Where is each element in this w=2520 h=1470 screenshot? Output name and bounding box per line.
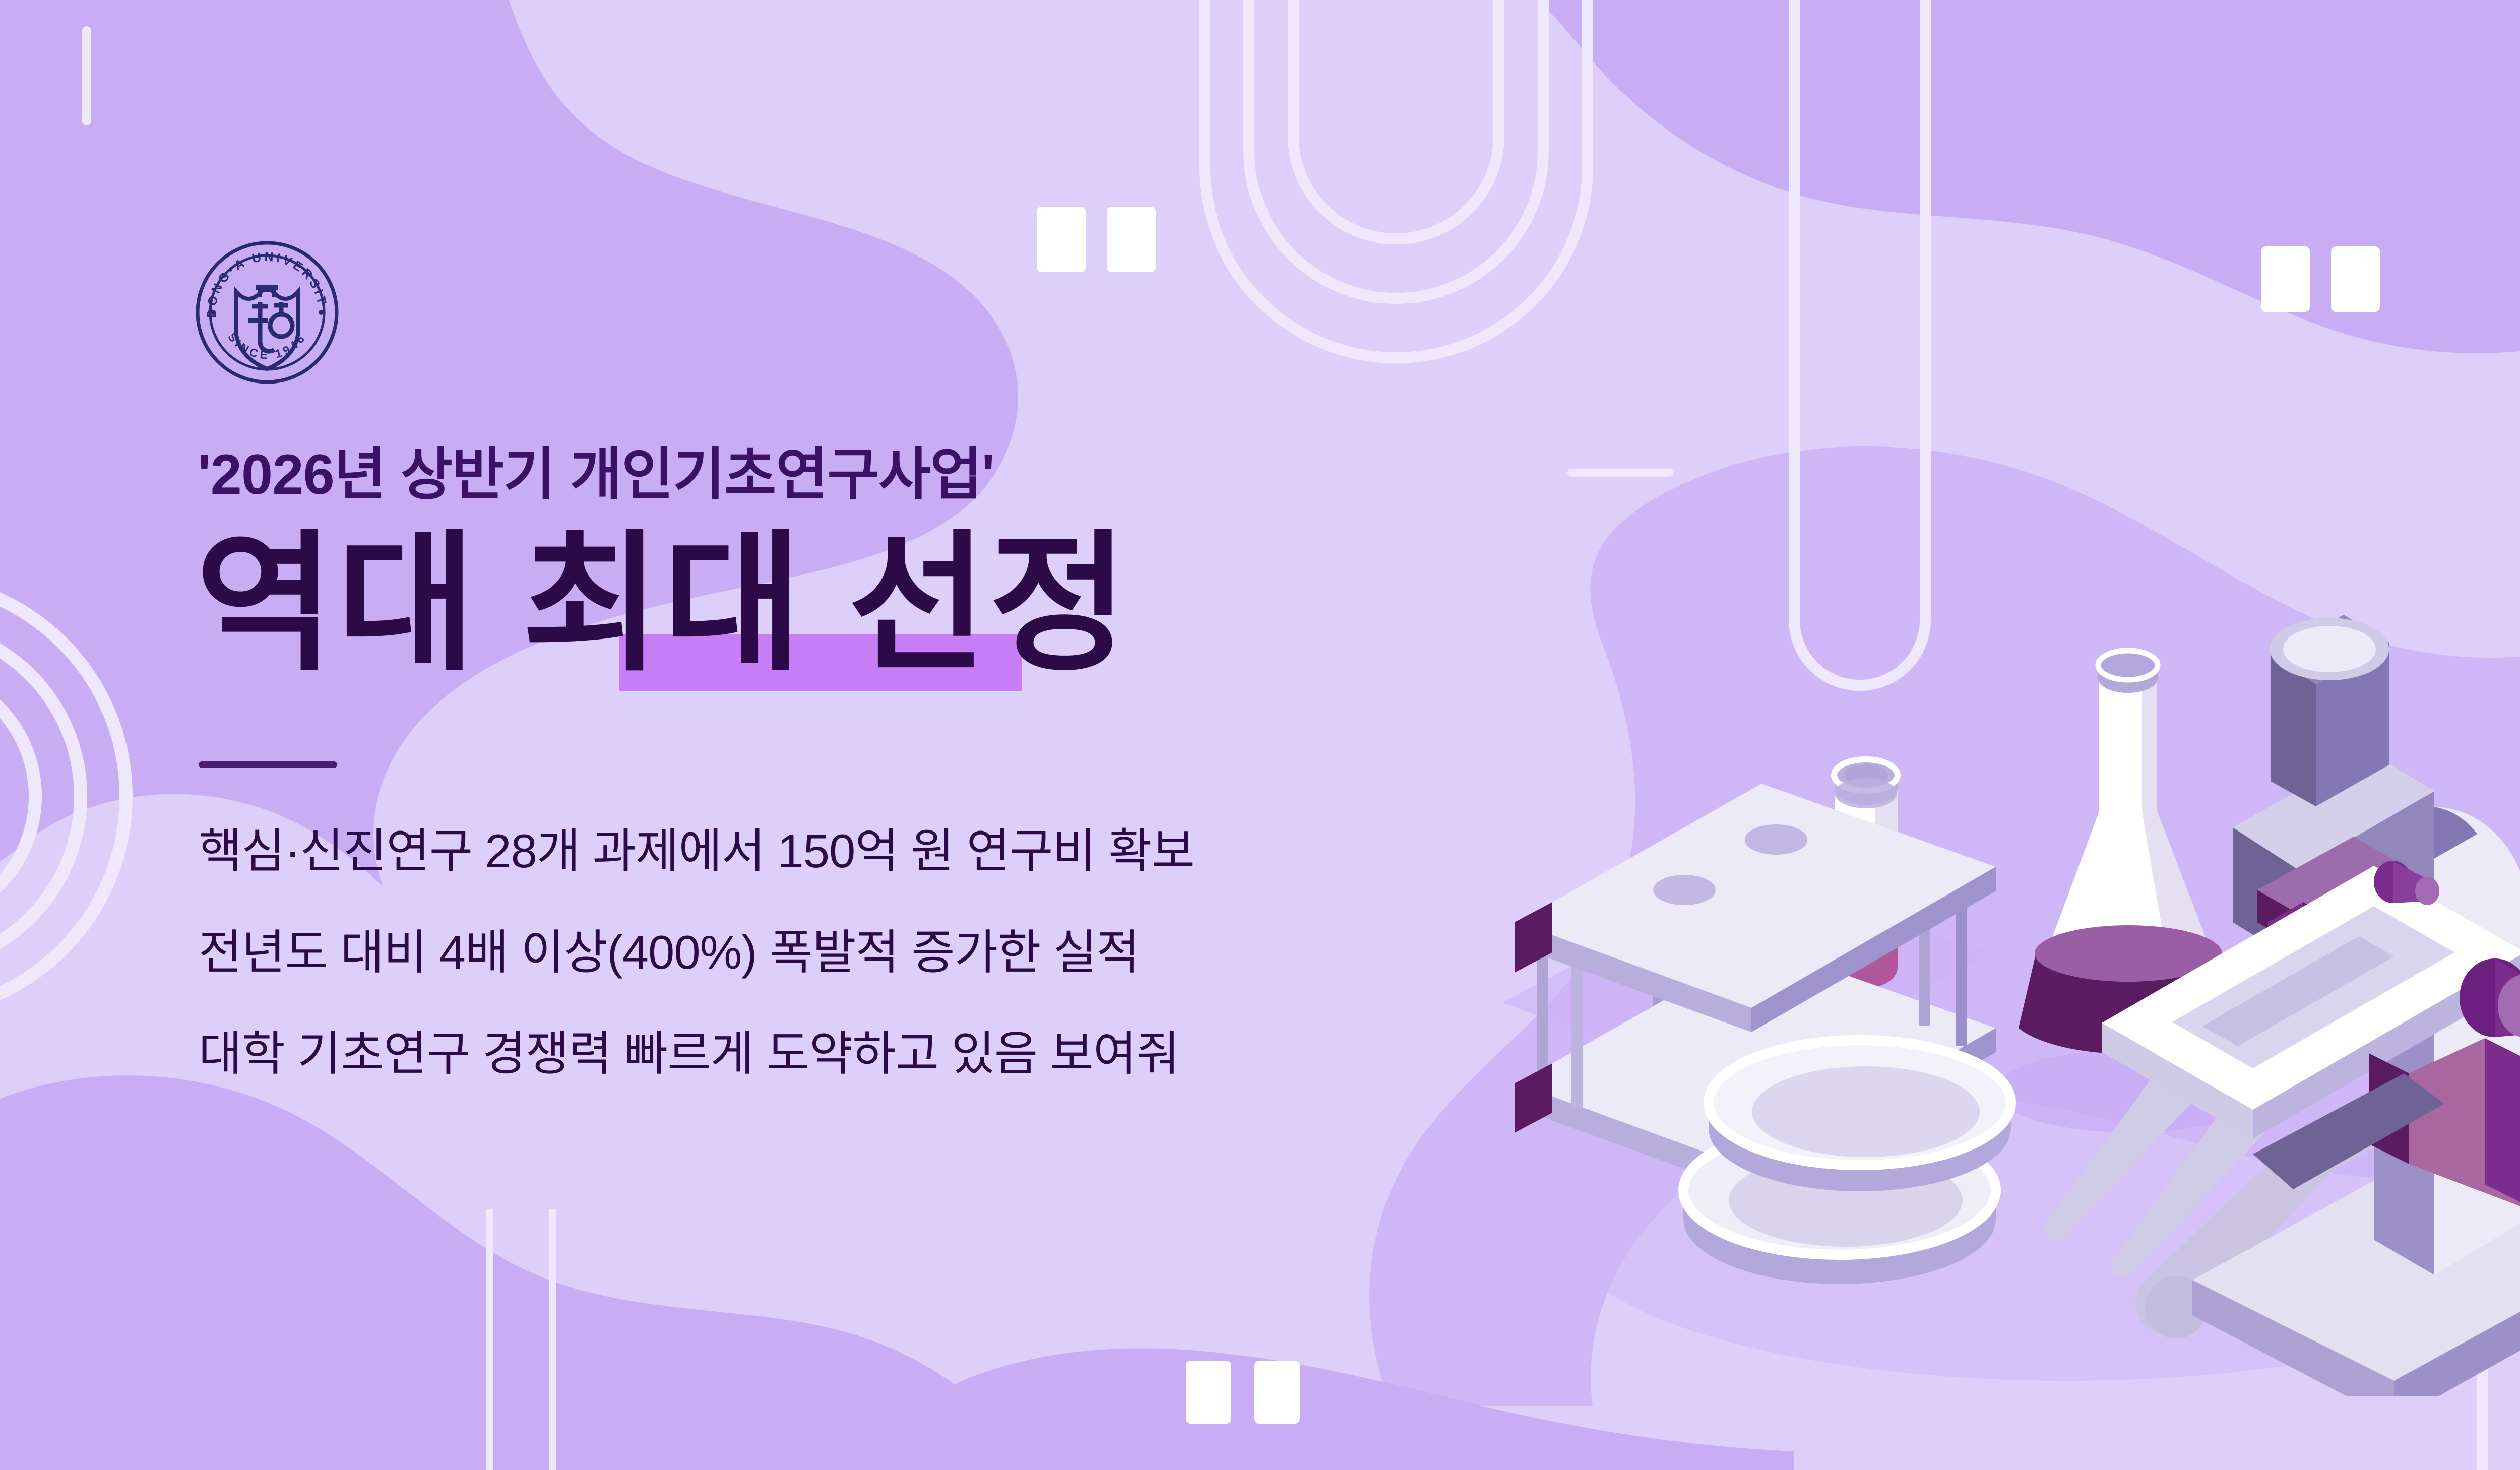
body-line-1: 핵심·신진연구 28개 과제에서 150억 원 연구비 확보 [199,827,1754,875]
body-text-block: 핵심·신진연구 28개 과제에서 150억 원 연구비 확보 전년도 대비 4배… [199,827,1754,1077]
page-title: 역대 최대 선정 [196,525,1754,683]
content-column: DONG·A UNIVERSITY SINCE 1946 '2026년 상반기 … [192,237,1754,1077]
stripe-bottom-left-2 [549,1209,556,1470]
stripe-bottom-left-1 [486,1209,493,1470]
university-logo: DONG·A UNIVERSITY SINCE 1946 [192,237,343,388]
stripe-top-left [82,26,91,125]
eyebrow-text: '2026년 상반기 개인기초연구사업' [198,443,1754,505]
body-line-3: 대학 기초연구 경쟁력 빠르게 도약하고 있음 보여줘 [199,1030,1754,1077]
headline-wrapper: 역대 최대 선정 [196,525,1754,696]
body-line-2: 전년도 대비 4배 이상(400%) 폭발적 증가한 실적 [199,929,1754,976]
promo-banner: DONG·A UNIVERSITY SINCE 1946 '2026년 상반기 … [0,0,2520,1470]
section-divider [199,761,337,768]
dong-a-university-emblem-icon: DONG·A UNIVERSITY SINCE 1946 [192,237,343,388]
